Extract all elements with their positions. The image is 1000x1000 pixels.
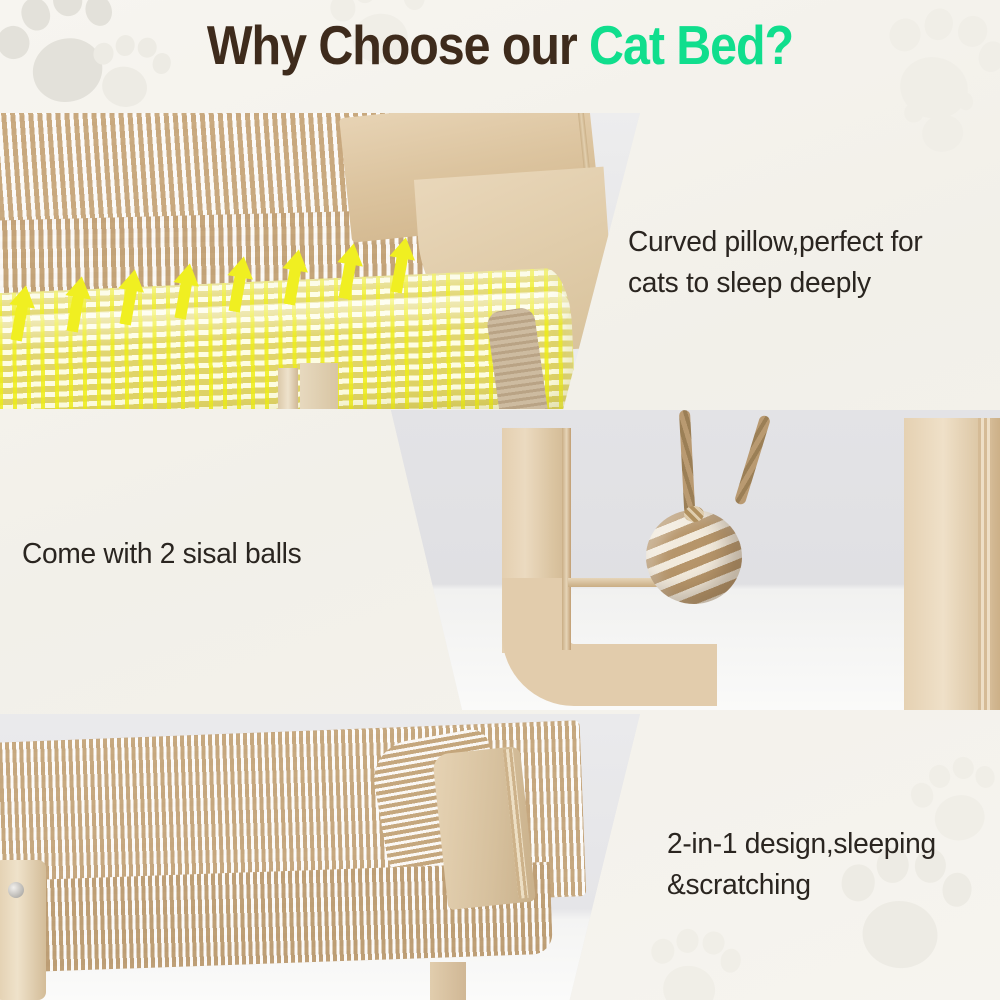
wood-side-left: [0, 860, 46, 1000]
title-primary-text: Why Choose our: [207, 14, 577, 76]
page-title: Why Choose our Cat Bed?: [0, 18, 1000, 73]
infographic-canvas: Why Choose our Cat Bed?: [0, 0, 1000, 1000]
feature-caption-3: 2-in-1 design,sleeping &scratching: [667, 824, 987, 906]
wood-leg-right: [300, 363, 338, 409]
feature-caption-2: Come with 2 sisal balls: [22, 534, 371, 575]
feature-photo-panel-1: [0, 113, 640, 409]
wood-leg-center: [430, 962, 466, 1000]
caption-3-line-1: 2-in-1 design,sleeping: [667, 824, 987, 865]
plywood-edge-lines-vertical: [562, 428, 571, 650]
wood-leg-left: [278, 368, 298, 409]
title-accent-text: Cat Bed?: [589, 14, 793, 76]
caption-2-line-1: Come with 2 sisal balls: [22, 534, 371, 575]
wood-side-right: [432, 746, 536, 910]
wood-post-right: [904, 418, 1000, 710]
caption-1-line-2: cats to sleep deeply: [628, 263, 977, 304]
sisal-ball: [646, 510, 742, 604]
caption-3-line-2: &scratching: [667, 865, 987, 906]
caption-1-line-1: Curved pillow,perfect for: [628, 222, 977, 263]
feature-photo-panel-3: [0, 714, 640, 1000]
feature-caption-1: Curved pillow,perfect for cats to sleep …: [628, 222, 977, 304]
